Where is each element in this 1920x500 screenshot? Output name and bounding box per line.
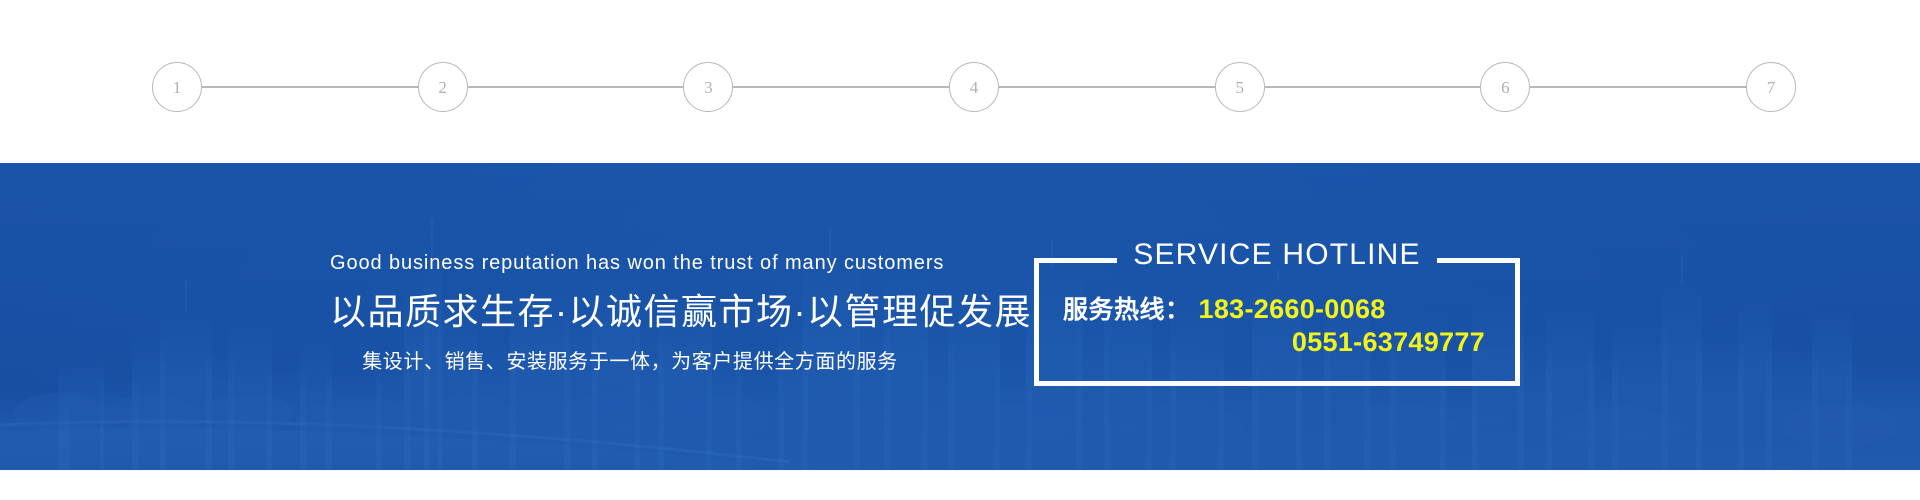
promo-banner: Good business reputation has won the tru… bbox=[0, 163, 1920, 470]
hotline-number-secondary[interactable]: 0551-63749777 bbox=[1292, 326, 1485, 359]
step-node-7[interactable]: 7 bbox=[1746, 62, 1796, 112]
service-hotline-box: SERVICE HOTLINE 服务热线： 183-2660-0068 0551… bbox=[1034, 258, 1520, 386]
step-node-4[interactable]: 4 bbox=[949, 62, 999, 112]
step-node-5[interactable]: 5 bbox=[1215, 62, 1265, 112]
slogan-chinese-headline: 以品质求生存·以诚信赢市场·以管理促发展 bbox=[330, 291, 930, 332]
step-connector-6-7 bbox=[1530, 86, 1746, 88]
hotline-number-primary[interactable]: 183-2660-0068 bbox=[1199, 293, 1386, 326]
hotline-label: 服务热线： bbox=[1063, 295, 1191, 326]
slogan-english-line: Good business reputation has won the tru… bbox=[330, 251, 930, 275]
stepper-track: 1 2 3 4 5 6 7 bbox=[152, 62, 1796, 112]
step-node-1[interactable]: 1 bbox=[152, 62, 202, 112]
hotline-row-secondary: 0551-63749777 bbox=[1063, 326, 1489, 359]
hotline-number-list: 服务热线： 183-2660-0068 0551-63749777 bbox=[1039, 293, 1515, 359]
page-root: 1 2 3 4 5 6 7 bbox=[0, 0, 1920, 500]
step-label-3: 3 bbox=[704, 79, 713, 96]
step-label-7: 7 bbox=[1767, 79, 1776, 96]
step-connector-5-6 bbox=[1265, 86, 1481, 88]
step-label-4: 4 bbox=[970, 79, 979, 96]
step-connector-2-3 bbox=[468, 86, 684, 88]
step-connector-1-2 bbox=[202, 86, 418, 88]
hotline-row-primary: 服务热线： 183-2660-0068 bbox=[1063, 293, 1489, 326]
slogan-chinese-subline: 集设计、销售、安装服务于一体，为客户提供全方面的服务 bbox=[330, 350, 930, 374]
slogan-block: Good business reputation has won the tru… bbox=[330, 251, 930, 374]
step-node-6[interactable]: 6 bbox=[1480, 62, 1530, 112]
step-label-5: 5 bbox=[1235, 79, 1244, 96]
step-label-2: 2 bbox=[438, 79, 447, 96]
step-progress-bar: 1 2 3 4 5 6 7 bbox=[0, 0, 1920, 163]
step-node-3[interactable]: 3 bbox=[683, 62, 733, 112]
step-node-2[interactable]: 2 bbox=[418, 62, 468, 112]
step-label-6: 6 bbox=[1501, 79, 1510, 96]
step-connector-4-5 bbox=[999, 86, 1215, 88]
step-connector-3-4 bbox=[733, 86, 949, 88]
step-label-1: 1 bbox=[173, 79, 182, 96]
